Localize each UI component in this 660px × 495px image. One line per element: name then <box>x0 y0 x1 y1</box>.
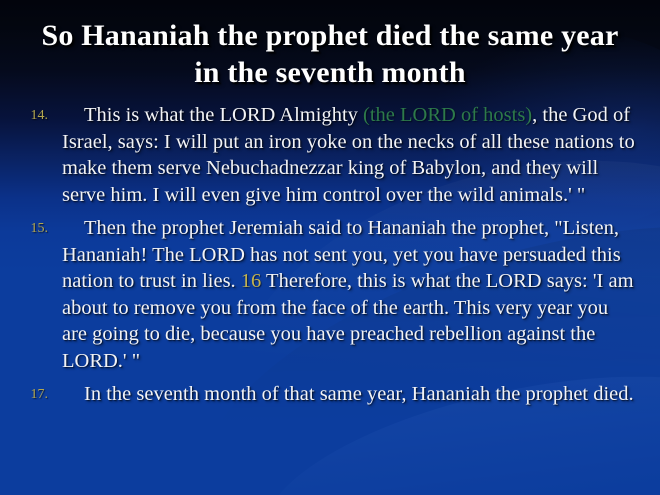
list-item-text: This is what the LORD Almighty <box>84 104 363 126</box>
list-item-text: In the seventh month of that same year, … <box>84 383 634 405</box>
list-item-text-gold: 16 <box>241 270 262 292</box>
slide-canvas: So Hananiah the prophet died the same ye… <box>0 0 660 495</box>
slide-title: So Hananiah the prophet died the same ye… <box>30 17 630 91</box>
list-item: 17.In the seventh month of that same yea… <box>0 381 660 408</box>
slide-body-list: 14.This is what the LORD Almighty (the L… <box>0 102 660 415</box>
list-item: 14.This is what the LORD Almighty (the L… <box>0 102 660 208</box>
list-item-number: 14. <box>0 103 48 128</box>
list-item-number: 15. <box>0 216 48 241</box>
list-item-text-green: (the LORD of hosts) <box>363 104 532 126</box>
list-item-number: 17. <box>0 382 48 407</box>
list-item: 15.Then the prophet Jeremiah said to Han… <box>0 215 660 374</box>
